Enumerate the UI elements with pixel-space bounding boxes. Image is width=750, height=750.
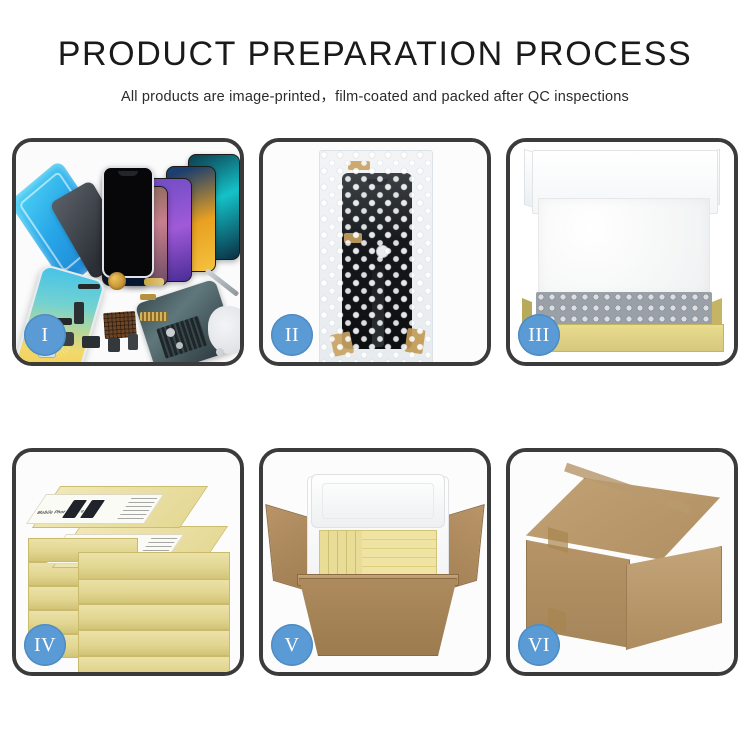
spare-part-icon xyxy=(78,284,100,289)
step-badge-3: III xyxy=(518,314,560,356)
screw-icon xyxy=(216,348,224,356)
spare-part-icon xyxy=(140,294,156,300)
kraft-box-icon xyxy=(78,630,230,656)
step-panel-6[interactable]: VI xyxy=(506,448,738,676)
step-badge-4: IV xyxy=(24,624,66,666)
hand-icon xyxy=(208,306,244,354)
step-panel-3[interactable]: III xyxy=(506,138,738,366)
step-panel-2[interactable]: II xyxy=(259,138,491,366)
process-steps-grid: I II xyxy=(12,138,738,676)
box-label-1: Mobile Phone Spare Parts xyxy=(26,494,164,524)
spare-part-icon xyxy=(74,302,84,324)
kraft-box-icon xyxy=(78,578,230,604)
foam-sheet-icon xyxy=(538,198,710,296)
step-badge-2: II xyxy=(271,314,313,356)
screw-icon xyxy=(166,328,175,337)
foam-lid-icon xyxy=(311,474,445,528)
carton-side-icon xyxy=(626,546,722,650)
spare-part-icon xyxy=(108,338,120,352)
screw-icon xyxy=(176,342,183,349)
phone-large-foreground-icon xyxy=(12,263,106,366)
carton-body-icon xyxy=(299,578,457,656)
kraft-box-icon xyxy=(78,552,230,580)
glass-screen-protector-icon xyxy=(102,166,154,278)
step-panel-4[interactable]: Mobile Phone Spare Parts Mobile Phone Sp… xyxy=(12,448,244,676)
step-badge-5: V xyxy=(271,624,313,666)
step-panel-5[interactable]: V xyxy=(259,448,491,676)
bubble-bag-icon xyxy=(319,150,433,366)
kraft-box-icon xyxy=(78,604,230,630)
kraft-box-icon xyxy=(78,656,230,676)
spare-part-icon xyxy=(82,336,100,348)
bubble-wrap-texture xyxy=(320,151,432,366)
step-badge-1: I xyxy=(24,314,66,356)
grey-bubble-wrap-icon xyxy=(536,292,712,328)
step-panel-1[interactable]: I xyxy=(12,138,244,366)
page-header: PRODUCT PREPARATION PROCESS All products… xyxy=(0,0,750,106)
spare-part-icon xyxy=(144,278,164,286)
page-title: PRODUCT PREPARATION PROCESS xyxy=(0,36,750,73)
page-subtitle: All products are image-printed，film-coat… xyxy=(0,85,750,106)
coin-part-icon xyxy=(108,272,126,290)
spare-part-icon xyxy=(128,334,138,350)
step-badge-6: VI xyxy=(518,624,560,666)
flex-cable-icon xyxy=(140,312,168,321)
